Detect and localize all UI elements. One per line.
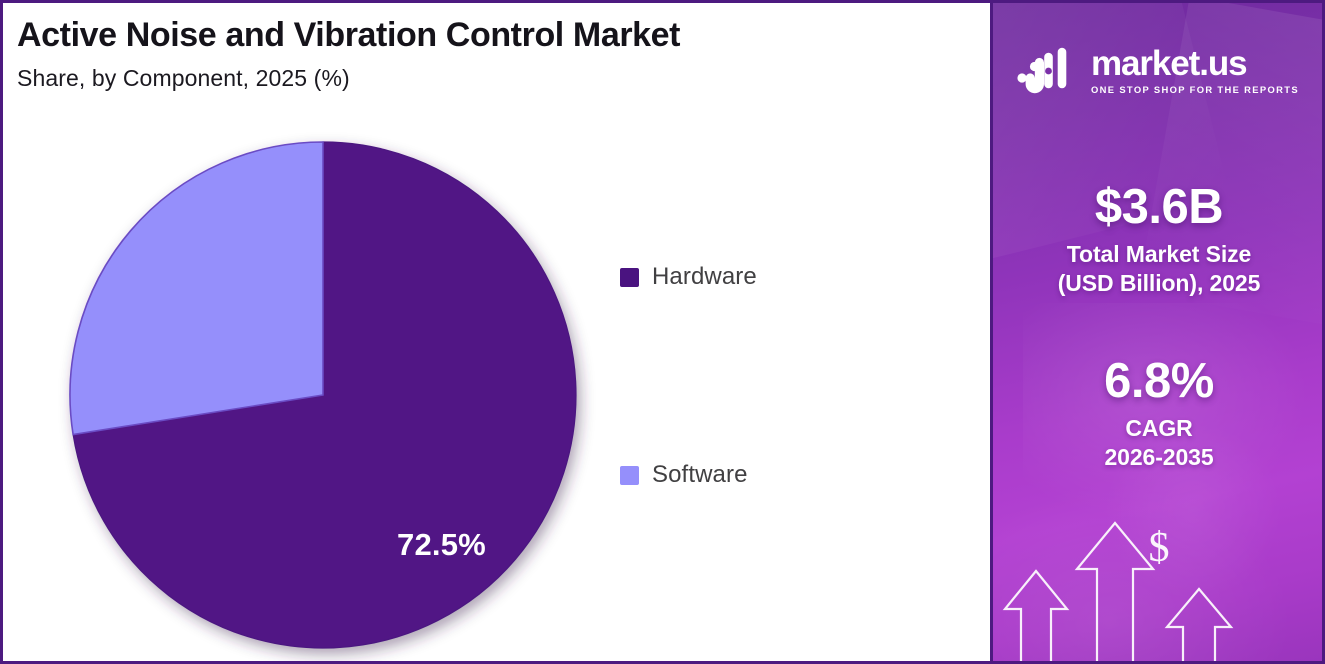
pie-chart-svg: [67, 139, 583, 655]
page-title: Active Noise and Vibration Control Marke…: [17, 15, 957, 55]
stats-panel: market.us ONE STOP SHOP FOR THE REPORTS …: [990, 3, 1322, 661]
stat-cagr: 6.8% CAGR 2026-2035: [993, 355, 1322, 473]
growth-arrows-icon: [993, 511, 1322, 661]
pie-label-hardware: 72.5%: [397, 527, 486, 563]
legend-item-hardware[interactable]: Hardware: [620, 263, 757, 291]
pie-chart: 72.5%: [67, 139, 583, 655]
brand-logo[interactable]: market.us ONE STOP SHOP FOR THE REPORTS: [1017, 39, 1301, 101]
title-block: Active Noise and Vibration Control Marke…: [17, 15, 957, 92]
page-subtitle: Share, by Component, 2025 (%): [17, 65, 957, 92]
stat-value: 6.8%: [993, 355, 1322, 408]
market-us-bars-logo-icon: [1017, 44, 1079, 96]
growth-arrows-svg: [993, 511, 1322, 661]
stat-market-size: $3.6B Total Market Size (USD Billion), 2…: [993, 181, 1322, 299]
legend-label: Hardware: [652, 263, 757, 291]
legend-swatch-icon: [620, 466, 639, 485]
stat-caption: Total Market Size (USD Billion), 2025: [993, 240, 1322, 299]
stat-caption-line2: (USD Billion), 2025: [993, 269, 1322, 298]
stat-value: $3.6B: [993, 181, 1322, 234]
stat-caption-line2: 2026-2035: [993, 443, 1322, 472]
stat-caption-line1: Total Market Size: [993, 240, 1322, 269]
legend: Hardware Software: [620, 153, 950, 603]
legend-label: Software: [652, 461, 748, 489]
logo-text: market.us ONE STOP SHOP FOR THE REPORTS: [1091, 46, 1299, 95]
logo-tagline: ONE STOP SHOP FOR THE REPORTS: [1091, 84, 1299, 95]
legend-swatch-icon: [620, 268, 639, 287]
stat-caption-line1: CAGR: [993, 414, 1322, 443]
chart-area: Active Noise and Vibration Control Marke…: [3, 3, 990, 661]
legend-item-software[interactable]: Software: [620, 461, 748, 489]
pie-slice-software: [70, 142, 323, 435]
infographic-root: Active Noise and Vibration Control Marke…: [0, 0, 1325, 664]
stat-caption: CAGR 2026-2035: [993, 414, 1322, 473]
logo-wordmark: market.us: [1091, 46, 1299, 81]
